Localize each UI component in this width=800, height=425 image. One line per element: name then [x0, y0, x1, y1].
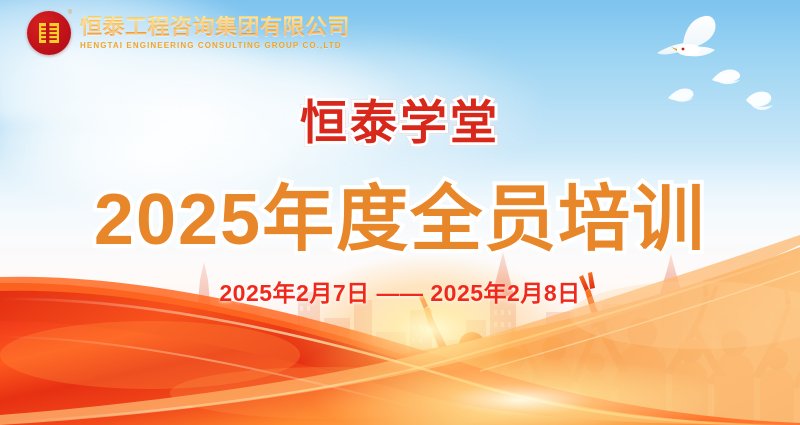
emblem-glyph-icon [37, 21, 61, 45]
company-name-en: HENGTAI ENGINEERING CONSULTING GROUP CO.… [80, 42, 350, 50]
dove-large-icon [655, 10, 735, 80]
sun-glow-horizon [310, 355, 730, 425]
company-logo-block: ® 恒泰工程咨询集团有限公司 HENGTAI ENGINEERING CONSU… [27, 11, 350, 55]
academy-subtitle-text: 恒泰学堂 [300, 96, 500, 149]
hengtai-emblem-icon: ® [27, 11, 71, 55]
training-banner: ® 恒泰工程咨询集团有限公司 HENGTAI ENGINEERING CONSU… [0, 0, 800, 425]
academy-subtitle: 恒泰学堂 [0, 84, 800, 153]
company-name-cn: 恒泰工程咨询集团有限公司 [80, 16, 350, 38]
event-date-range: 2025年2月7日 —— 2025年2月8日 [0, 274, 800, 308]
registered-mark: ® [68, 10, 72, 16]
company-name-group: 恒泰工程咨询集团有限公司 HENGTAI ENGINEERING CONSULT… [80, 16, 350, 50]
page-title: 2025年度全员培训 [0, 160, 800, 265]
